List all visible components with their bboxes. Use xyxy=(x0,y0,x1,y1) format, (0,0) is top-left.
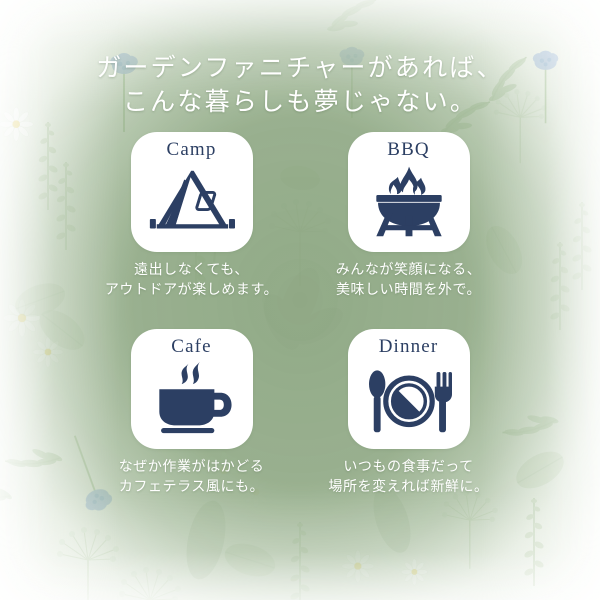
card-caption-camp: 遠出しなくても、 アウトドアが楽しめます。 xyxy=(105,261,278,302)
caption-line-2: 美味しい時間を外で。 xyxy=(336,281,482,301)
feature-card-bbq[interactable]: BBQ xyxy=(348,132,470,252)
feature-card-grid: Camp xyxy=(0,132,600,498)
card-caption-dinner: いつもの食事だって 場所を変えれば新鮮に。 xyxy=(328,458,488,499)
caption-line-1: なぜか作業がはかどる xyxy=(119,458,265,478)
page-title: ガーデンファニチャーがあれば、 こんな暮らしも夢じゃない。 xyxy=(0,52,600,120)
feature-cell-camp: Camp xyxy=(131,132,253,302)
caption-line-1: いつもの食事だって xyxy=(328,458,488,478)
headline-line-1: ガーデンファニチャーがあれば、 xyxy=(0,52,600,86)
feature-card-cafe[interactable]: Cafe xyxy=(131,329,253,449)
feature-cell-bbq: BBQ xyxy=(348,132,470,302)
caption-line-1: みんなが笑顔になる、 xyxy=(336,261,482,281)
card-title-dinner: Dinner xyxy=(379,337,439,358)
feature-card-camp[interactable]: Camp xyxy=(131,132,253,252)
caption-line-2: アウトドアが楽しめます。 xyxy=(105,281,278,301)
cutlery-plate-icon xyxy=(366,358,452,436)
card-title-bbq: BBQ xyxy=(387,140,430,161)
caption-line-2: カフェテラス風にも。 xyxy=(119,478,265,498)
caption-line-2: 場所を変えれば新鮮に。 xyxy=(328,478,488,498)
card-title-cafe: Cafe xyxy=(171,337,211,358)
coffee-mug-icon xyxy=(149,358,235,436)
feature-cell-dinner: Dinner xyxy=(348,329,470,499)
promo-banner: ガーデンファニチャーがあれば、 こんな暮らしも夢じゃない。 Camp xyxy=(0,0,600,600)
card-title-camp: Camp xyxy=(167,140,217,161)
card-caption-bbq: みんなが笑顔になる、 美味しい時間を外で。 xyxy=(336,261,482,302)
grill-icon xyxy=(366,162,452,240)
feature-cell-cafe: Cafe xyxy=(131,329,253,499)
headline-line-2: こんな暮らしも夢じゃない。 xyxy=(0,86,600,120)
feature-card-dinner[interactable]: Dinner xyxy=(348,329,470,449)
caption-line-1: 遠出しなくても、 xyxy=(105,261,278,281)
tent-icon xyxy=(149,162,235,240)
card-caption-cafe: なぜか作業がはかどる カフェテラス風にも。 xyxy=(119,458,265,499)
